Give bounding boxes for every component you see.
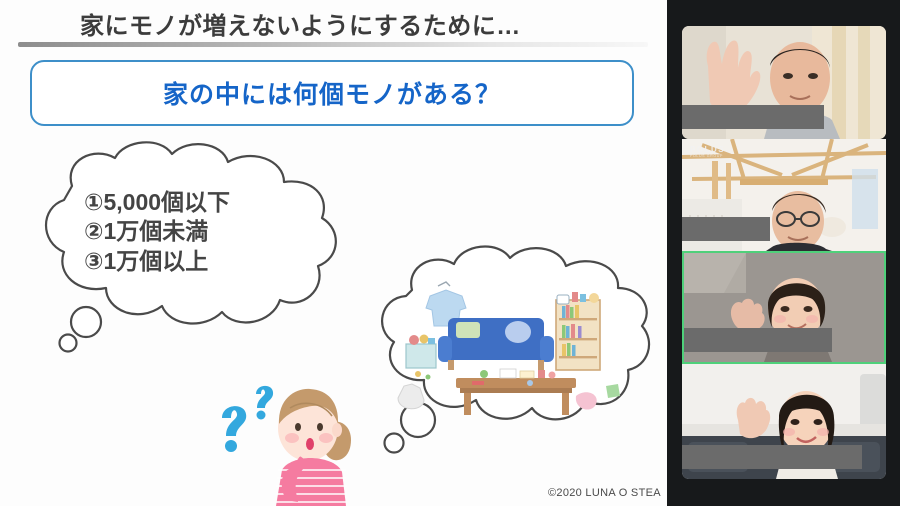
polus-watermark: POLUSPOLUS GROUP [690,145,725,158]
video-tile-participant-3[interactable] [682,251,886,364]
trash-bag-icon [398,384,424,409]
options-thought-bubble: ①5,000個以下 ②1万個未満 ③1万個以上 [12,138,372,353]
option-item-2: ②1万個未満 [84,217,364,246]
room-thought-bubble [360,238,660,458]
question-box: 家の中には何個モノがある？ [30,60,634,126]
thinking-girl [200,372,380,506]
video-tile-participant-2[interactable]: POLUSPOLUS GROUP [682,139,886,251]
video-tile-participant-1[interactable] [682,26,886,139]
eye-left [295,423,301,431]
options-list: ①5,000個以下 ②1万個未満 ③1万個以上 [84,188,364,276]
name-label-redaction [682,105,824,129]
thought-bubble-shape [360,238,660,458]
question-mark-icon [222,386,273,452]
question-box-text: 家の中には何個モノがある？ [163,75,501,111]
ear [332,423,342,437]
bookshelf-icon [556,292,600,370]
mouth [306,438,314,450]
eye-right [317,423,323,431]
screen-root: 家にモノが増えないようにするために… 家の中には何個モノがある？ ①5,000個… [0,0,900,506]
option-item-3: ③1万個以上 [84,247,364,276]
presentation-slide: 家にモノが増えないようにするために… 家の中には何個モノがある？ ①5,000個… [0,0,667,506]
title-divider [18,42,648,47]
name-label-redaction [682,217,770,241]
cheek-right [319,433,333,443]
option-item-1: ①5,000個以下 [84,188,364,217]
copyright-text: ©2020 LUNA O STEA [548,487,661,499]
video-tile-participant-4[interactable] [682,364,886,479]
stray-item-icon [606,384,620,398]
video-participants-panel: POLUSPOLUS GROUP [667,0,900,506]
name-label-redaction [684,328,832,352]
page-title: 家にモノが増えないようにするために… [80,6,600,41]
name-label-redaction [682,445,862,469]
thinking-girl-illustration [200,372,380,506]
cheek-left [285,433,299,443]
